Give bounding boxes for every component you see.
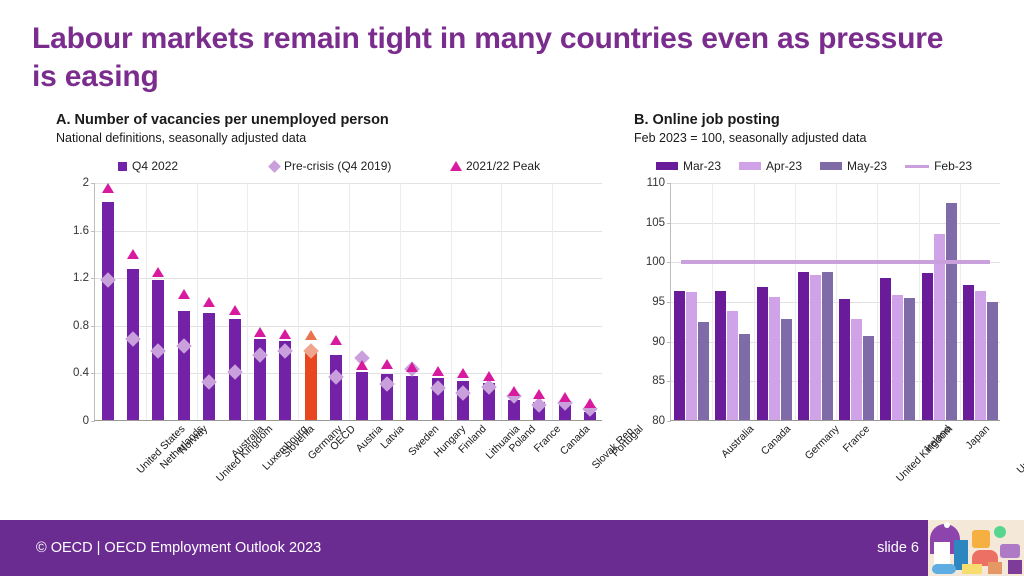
- bar-may-23: [781, 319, 792, 420]
- bar-mar-23: [880, 278, 891, 420]
- chart-group: [671, 183, 712, 420]
- bar-apr-23: [727, 311, 738, 420]
- marker-peak: [178, 289, 190, 299]
- legend-item-may-23[interactable]: May-23: [820, 159, 887, 173]
- marker-peak: [305, 330, 317, 340]
- marker-peak: [102, 183, 114, 193]
- legend-item-mar-23[interactable]: Mar-23: [656, 159, 721, 173]
- chart-column: [120, 183, 145, 420]
- bar-may-23: [739, 334, 750, 420]
- page-title: Labour markets remain tight in many coun…: [32, 20, 962, 96]
- panel-a-title: A. Number of vacancies per unemployed pe…: [56, 112, 606, 128]
- legend-item-pre-crisis[interactable]: Pre-crisis (Q4 2019): [270, 159, 450, 173]
- legend-label: Q4 2022: [132, 159, 178, 173]
- footer-slide-number: slide 6: [877, 540, 919, 556]
- x-axis-tick-label: United States: [1014, 423, 1024, 476]
- chart-column: [146, 183, 171, 420]
- panel-b-title: B. Online job posting: [634, 112, 1014, 128]
- chart-column: [578, 183, 603, 420]
- bar-q4-2022: [330, 355, 342, 420]
- chart-group: [960, 183, 1001, 420]
- marker-peak: [533, 389, 545, 399]
- x-axis-tick-label: Germany: [802, 423, 841, 462]
- bar-mar-23: [757, 287, 768, 420]
- legend-item-feb-23[interactable]: Feb-23: [905, 159, 972, 173]
- x-axis-tick-label: Japan: [963, 423, 992, 452]
- marker-peak: [508, 386, 520, 396]
- bar-mar-23: [963, 285, 974, 420]
- panel-a-x-axis-labels: United StatesNetherlandsNorwayUnited Kin…: [94, 421, 606, 513]
- chart-column: [451, 183, 476, 420]
- legend-label: Pre-crisis (Q4 2019): [284, 159, 391, 173]
- y-axis-tick-label: 1.6: [73, 225, 89, 237]
- y-axis-tick-label: 0: [83, 415, 89, 427]
- x-axis-tick-label: Canada: [759, 423, 793, 457]
- panel-a-vacancies: A. Number of vacancies per unemployed pe…: [56, 112, 606, 512]
- y-axis-tick-label: 1.2: [73, 272, 89, 284]
- x-axis-tick-label: France: [840, 423, 872, 455]
- chart-column: [501, 183, 526, 420]
- line-swatch-icon: [905, 165, 929, 168]
- legend-label: Feb-23: [934, 159, 972, 173]
- bar-apr-23: [686, 292, 697, 420]
- marker-peak: [330, 335, 342, 345]
- x-axis-tick-label: Australia: [719, 423, 756, 460]
- marker-peak: [432, 366, 444, 376]
- marker-peak: [406, 362, 418, 372]
- bar-q4-2022: [203, 313, 215, 420]
- marker-peak: [152, 267, 164, 277]
- bar-may-23: [698, 322, 709, 420]
- y-axis-tick-label: 2: [83, 177, 89, 189]
- chart-column: [95, 183, 120, 420]
- marker-peak: [457, 368, 469, 378]
- chart-column: [171, 183, 196, 420]
- marker-peak: [559, 392, 571, 402]
- bar-apr-23: [769, 297, 780, 420]
- chart-column: [273, 183, 298, 420]
- y-axis-tick-label: 85: [652, 375, 665, 387]
- chart-group: [754, 183, 795, 420]
- diamond-marker-icon: [268, 160, 281, 173]
- bar-mar-23: [674, 291, 685, 420]
- marker-peak: [254, 327, 266, 337]
- bar-q4-2022: [356, 372, 368, 420]
- bar-may-23: [946, 203, 957, 420]
- chart-group: [712, 183, 753, 420]
- chart-column: [197, 183, 222, 420]
- bar-q4-2022: [102, 202, 114, 420]
- y-axis-tick-label: 0.8: [73, 320, 89, 332]
- chart-column: [349, 183, 374, 420]
- bar-mar-23: [798, 272, 809, 420]
- legend-item-apr-23[interactable]: Apr-23: [739, 159, 802, 173]
- legend-label: Apr-23: [766, 159, 802, 173]
- legend-label: May-23: [847, 159, 887, 173]
- chart-column: [476, 183, 501, 420]
- bar-q4-2022: [178, 311, 190, 420]
- y-axis-tick-label: 110: [647, 177, 665, 189]
- bar-may-23: [904, 298, 915, 420]
- slide-root: Labour markets remain tight in many coun…: [0, 0, 1024, 576]
- panel-a-plot-area: 00.40.81.21.62: [94, 183, 602, 421]
- chart-column: [247, 183, 272, 420]
- bar-swatch-icon: [739, 162, 761, 170]
- panel-a-legend: Q4 2022 Pre-crisis (Q4 2019) 2021/22 Pea…: [56, 159, 606, 173]
- marker-peak: [483, 371, 495, 381]
- legend-item-q4-2022[interactable]: Q4 2022: [118, 159, 270, 173]
- y-axis-tick-label: 80: [652, 415, 665, 427]
- bar-may-23: [822, 272, 833, 420]
- legend-item-peak[interactable]: 2021/22 Peak: [450, 159, 540, 173]
- marker-peak: [279, 329, 291, 339]
- reference-line-feb-23: [681, 260, 990, 264]
- bar-apr-23: [975, 291, 986, 420]
- bar-mar-23: [839, 299, 850, 420]
- panel-a-subtitle: National definitions, seasonally adjuste…: [56, 131, 606, 145]
- chart-column: [222, 183, 247, 420]
- chart-column: [298, 183, 323, 420]
- footer-copyright: © OECD | OECD Employment Outlook 2023: [36, 540, 321, 556]
- y-axis-tick-label: 95: [652, 296, 665, 308]
- marker-peak: [127, 249, 139, 259]
- marker-peak: [584, 398, 596, 408]
- marker-peak: [203, 297, 215, 307]
- panel-b-x-axis-labels: AustraliaCanadaGermanyFranceUnited Kingd…: [670, 421, 1014, 513]
- panel-b-plot-area: 80859095100105110: [670, 183, 1000, 421]
- bar-mar-23: [715, 291, 726, 420]
- legend-label: 2021/22 Peak: [466, 159, 540, 173]
- chart-column: [374, 183, 399, 420]
- chart-column: [527, 183, 552, 420]
- chart-group: [877, 183, 918, 420]
- bar-apr-23: [851, 319, 862, 420]
- x-axis-tick-label: Ireland: [923, 423, 954, 454]
- square-marker-icon: [118, 162, 127, 171]
- chart-column: [324, 183, 349, 420]
- marker-peak: [229, 305, 241, 315]
- bar-may-23: [863, 336, 874, 420]
- x-axis-tick-label: United Kingdom: [214, 423, 275, 484]
- y-axis-tick-label: 100: [646, 256, 665, 268]
- x-axis-tick-label: Canada: [558, 423, 592, 457]
- y-axis-tick-label: 0.4: [73, 367, 89, 379]
- bar-mar-23: [922, 273, 933, 420]
- bar-swatch-icon: [820, 162, 842, 170]
- footer-bar: © OECD | OECD Employment Outlook 2023 sl…: [0, 520, 1024, 576]
- chart-column: [425, 183, 450, 420]
- chart-group: [836, 183, 877, 420]
- marker-peak: [381, 359, 393, 369]
- chart-group: [795, 183, 836, 420]
- panel-b-subtitle: Feb 2023 = 100, seasonally adjusted data: [634, 131, 1014, 145]
- y-axis-tick-label: 90: [652, 336, 665, 348]
- chart-column: [400, 183, 425, 420]
- bar-q4-2022: [406, 376, 418, 420]
- chart-group: [919, 183, 960, 420]
- marker-peak: [356, 360, 368, 370]
- bar-may-23: [987, 302, 998, 420]
- oecd-illustration-logo: [928, 520, 1024, 576]
- panel-b-legend: Mar-23 Apr-23 May-23 Feb-23: [634, 159, 1014, 173]
- chart-column: [552, 183, 577, 420]
- y-axis-tick-label: 105: [646, 217, 665, 229]
- bar-apr-23: [892, 295, 903, 420]
- bar-swatch-icon: [656, 162, 678, 170]
- triangle-marker-icon: [450, 161, 462, 171]
- panel-b-online-job-posting: B. Online job posting Feb 2023 = 100, se…: [634, 112, 1014, 512]
- bar-q4-2022: [305, 349, 317, 420]
- legend-label: Mar-23: [683, 159, 721, 173]
- bar-apr-23: [810, 275, 821, 420]
